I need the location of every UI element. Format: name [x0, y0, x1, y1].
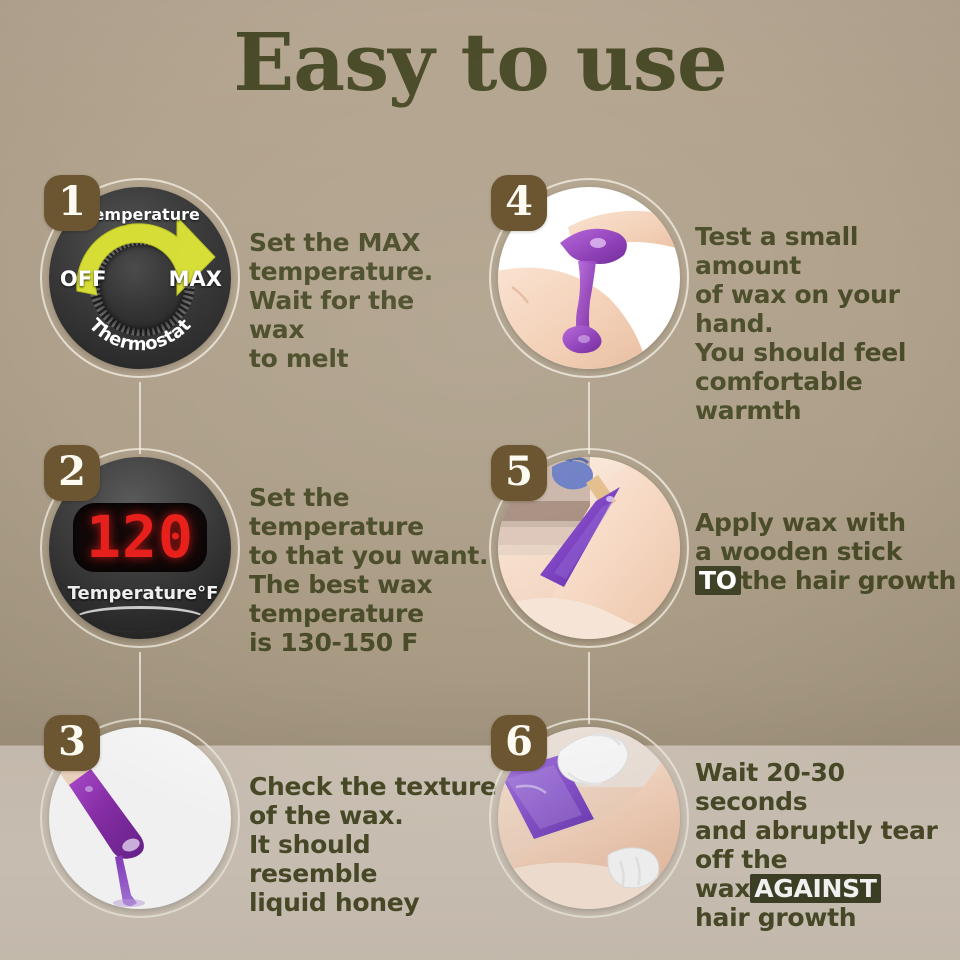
step-6-caption-line-4: hair growth [695, 903, 960, 932]
led-screen: 120 [73, 503, 208, 572]
step-2-caption-line-5: temperature [249, 599, 499, 628]
step-1-caption-line-1: Set the MAX [249, 228, 469, 257]
dial-arc-text: Thermostat [85, 315, 196, 356]
step-5-badge: 5 [491, 445, 547, 501]
step-4-caption: Test a small amount of wax on your hand.… [695, 222, 957, 425]
step-5-caption-line-1: Apply wax with [695, 508, 960, 537]
step-1-caption-line-2: temperature. [249, 257, 469, 286]
step-6-caption-line-2: and abruptly tear [695, 816, 960, 845]
step-2-caption-line-3: to that you want. [249, 541, 499, 570]
step-5-caption-line-3: TOthe hair growth [695, 566, 960, 595]
step-3-badge: 3 [44, 715, 100, 771]
step-3-caption-line-2: of the wax. [249, 801, 499, 830]
step-2-caption-line-6: is 130-150 F [249, 628, 499, 657]
connector-step4-step5 [588, 382, 590, 454]
step-6-caption-line-1: Wait 20-30 seconds [695, 758, 960, 816]
step-3-caption-line-3: It should resemble [249, 830, 499, 888]
step-3-caption-line-4: liquid honey [249, 888, 499, 917]
step-3-caption: Check the texture of the wax. It should … [249, 772, 499, 917]
step-5-caption-line-2: a wooden stick [695, 537, 960, 566]
connector-step5-step6 [588, 652, 590, 724]
connector-step2-step3 [139, 652, 141, 724]
step-5-highlight-to: TO [695, 566, 741, 595]
step-6-highlight-against: AGAINST [750, 874, 880, 903]
step-4-caption-line-2: of wax on your hand. [695, 280, 957, 338]
svg-text:Thermostat: Thermostat [85, 315, 196, 356]
step-2-caption: Set the temperature to that you want. Th… [249, 483, 499, 657]
step-6-badge: 6 [491, 715, 547, 771]
display-bottom-rim [74, 606, 205, 631]
step-2-caption-line-4: The best wax [249, 570, 499, 599]
step-1-caption-line-4: to melt [249, 344, 469, 373]
step-4-badge: 4 [491, 175, 547, 231]
connector-step1-step2 [139, 382, 141, 454]
step-2-caption-line-1: Set the [249, 483, 499, 512]
step-6-caption-line-3: off the waxAGAINST [695, 845, 960, 903]
step-3-caption-line-1: Check the texture [249, 772, 499, 801]
led-label-temperature: Temperature°F [68, 583, 219, 604]
step-1-caption-line-3: Wait for the wax [249, 286, 469, 344]
step-2-badge: 2 [44, 445, 100, 501]
step-4-caption-line-1: Test a small amount [695, 222, 957, 280]
step-2-caption-line-2: temperature [249, 512, 499, 541]
step-6-caption: Wait 20-30 seconds and abruptly tear off… [695, 758, 960, 932]
page-title: Easy to use [0, 18, 960, 106]
led-digits: 120 [86, 503, 194, 571]
step-1-badge: 1 [44, 175, 100, 231]
step-1-caption: Set the MAX temperature. Wait for the wa… [249, 228, 469, 373]
infographic-page: Easy to use Temperature OFF MAX Thermost… [0, 0, 960, 960]
step-4-caption-line-4: comfortable warmth [695, 367, 957, 425]
step-4-caption-line-3: You should feel [695, 338, 957, 367]
step-5-caption-line-3-rest: the hair growth [741, 566, 956, 595]
step-5-caption: Apply wax with a wooden stick TOthe hair… [695, 508, 960, 595]
